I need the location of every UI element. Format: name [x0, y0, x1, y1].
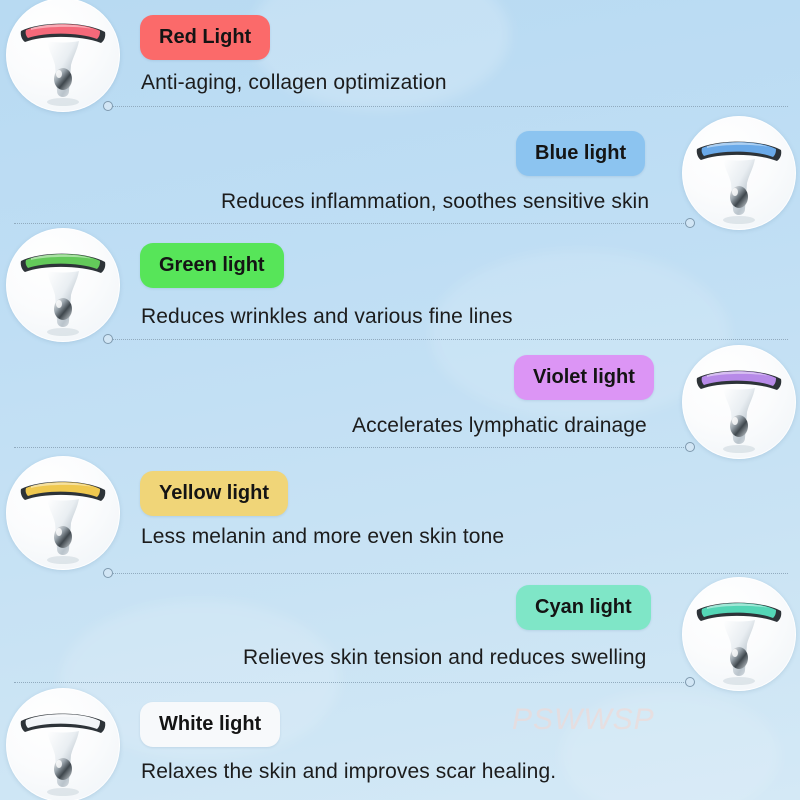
light-mode-description: Reduces wrinkles and various fine lines [141, 305, 513, 329]
dotted-line [104, 106, 788, 107]
product-photo [6, 228, 120, 342]
connector-dot [103, 334, 113, 344]
product-photo [6, 688, 120, 800]
dotted-line [14, 447, 694, 448]
connector-dot [685, 218, 695, 228]
dotted-line [104, 339, 788, 340]
product-photo [6, 0, 120, 112]
connector-dot [685, 677, 695, 687]
product-photo [6, 456, 120, 570]
row-connector [104, 334, 788, 346]
product-photo [682, 116, 796, 230]
connector-dot [685, 442, 695, 452]
light-mode-description: Less melanin and more even skin tone [141, 525, 504, 549]
connector-dot [103, 568, 113, 578]
row-connector [14, 442, 694, 454]
light-mode-badge[interactable]: Cyan light [516, 585, 651, 630]
light-mode-description: Reduces inflammation, soothes sensitive … [221, 190, 649, 214]
light-mode-badge[interactable]: Green light [140, 243, 284, 288]
watermark-text: PSWWSP [512, 703, 655, 737]
row-connector [104, 101, 788, 113]
row-connector [14, 677, 694, 689]
product-photo [682, 345, 796, 459]
row-connector [104, 568, 788, 580]
light-mode-badge[interactable]: Blue light [516, 131, 645, 176]
light-therapy-infographic: Red Light Anti-aging, collagen optimizat… [0, 0, 800, 800]
connector-dot [103, 101, 113, 111]
light-mode-badge[interactable]: Yellow light [140, 471, 288, 516]
background-blob [560, 690, 780, 800]
dotted-line [14, 223, 694, 224]
light-mode-description: Anti-aging, collagen optimization [141, 71, 447, 95]
dotted-line [104, 573, 788, 574]
light-mode-description: Relieves skin tension and reduces swelli… [243, 646, 646, 670]
light-mode-badge[interactable]: White light [140, 702, 280, 747]
light-mode-description: Accelerates lymphatic drainage [352, 414, 647, 438]
light-mode-description: Relaxes the skin and improves scar heali… [141, 760, 556, 784]
dotted-line [14, 682, 694, 683]
light-mode-badge[interactable]: Red Light [140, 15, 270, 60]
product-photo [682, 577, 796, 691]
row-connector [14, 218, 694, 230]
light-mode-badge[interactable]: Violet light [514, 355, 654, 400]
